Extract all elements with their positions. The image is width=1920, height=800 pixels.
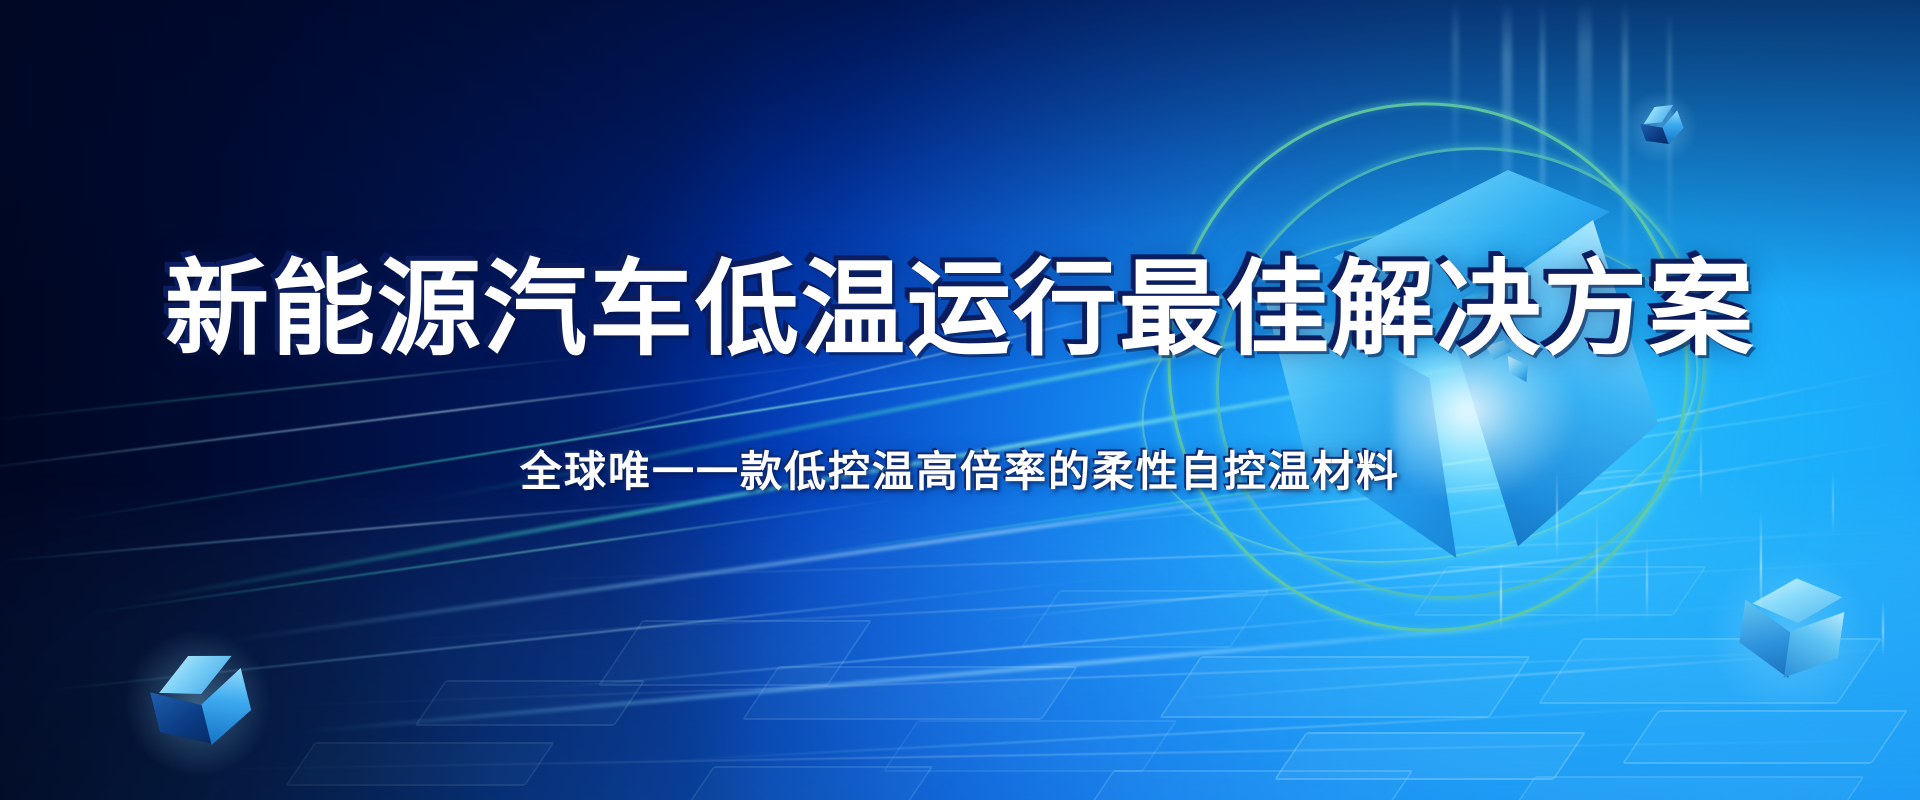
light-spark (1760, 512, 1762, 612)
hero-banner: 新能源汽车低温运行最佳解决方案 全球唯一一款低控温高倍率的柔性自控温材料 (0, 0, 1920, 800)
light-spark (1646, 540, 1648, 620)
floating-cube (140, 645, 256, 761)
circuit-trace (1087, 770, 1414, 800)
light-spark (1882, 600, 1884, 656)
circuit-trace (687, 766, 934, 800)
light-spark (1596, 506, 1598, 626)
circuit-trace (1622, 710, 1908, 764)
circuit-trace (1505, 776, 1865, 800)
banner-title: 新能源汽车低温运行最佳解决方案 (0, 252, 1920, 368)
circuit-trace (882, 720, 1177, 772)
floating-cube (1728, 571, 1852, 695)
circuit-trace (1159, 656, 1531, 718)
banner-subtitle: 全球唯一一款低控温高倍率的柔性自控温材料 (0, 438, 1920, 499)
floating-cube (1634, 100, 1688, 154)
crystal-prism-graphic (1130, 90, 1770, 650)
light-spark (1500, 560, 1502, 630)
circuit-trace (742, 666, 1078, 720)
circuit-trace (414, 680, 645, 726)
